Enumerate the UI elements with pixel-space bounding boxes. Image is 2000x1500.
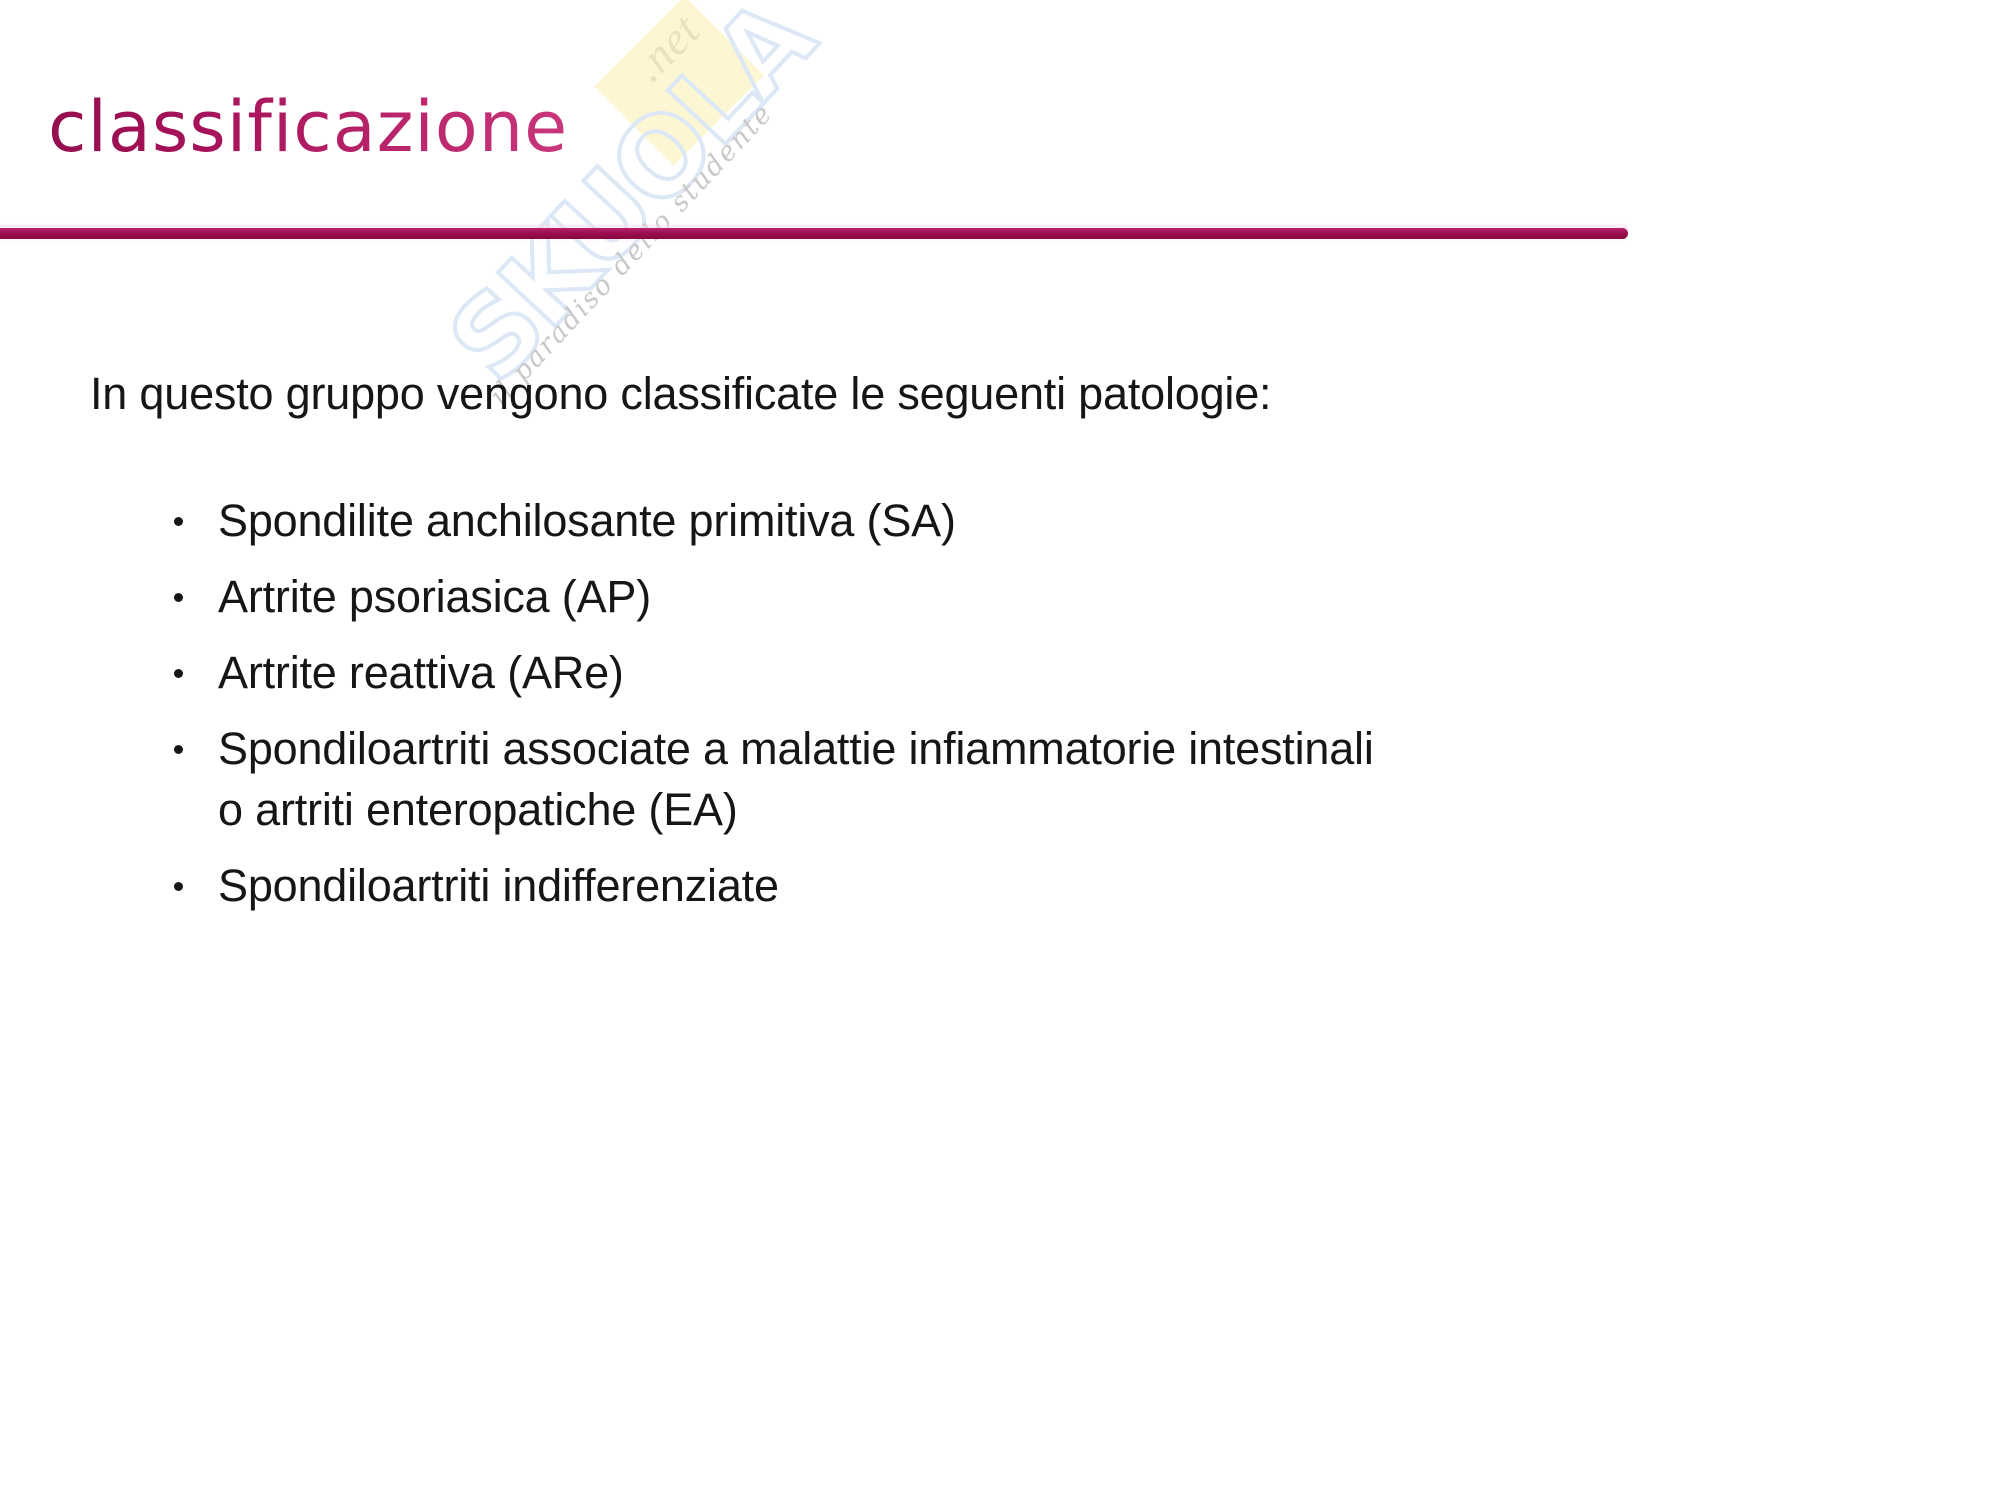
- title-block: classificazione: [0, 92, 1640, 162]
- list-item-label: Artrite reattiva (ARe): [218, 647, 624, 698]
- bullet-dot-icon: [174, 745, 183, 754]
- list-item-label: Spondiloartriti associate a malattie inf…: [218, 723, 1374, 774]
- title-divider-rule: [0, 228, 1628, 239]
- list-item: Spondilite anchilosante primitiva (SA): [170, 490, 1374, 551]
- list-item: Spondiloartriti indifferenziate: [170, 855, 1374, 916]
- bullet-dot-icon: [174, 882, 183, 891]
- watermark-brand-label: SKUOLA: [426, 0, 836, 405]
- intro-paragraph: In questo gruppo vengono classificate le…: [90, 368, 1271, 420]
- watermark-net-label: .net: [622, 3, 710, 91]
- list-item-label: Artrite psoriasica (AP): [218, 571, 651, 622]
- list-item-label: Spondilite anchilosante primitiva (SA): [218, 495, 956, 546]
- slide-canvas: .net SKUOLA il paradiso dello studente c…: [0, 0, 2000, 1500]
- list-item-label: Spondiloartriti indifferenziate: [218, 860, 779, 911]
- bullet-dot-icon: [174, 517, 183, 526]
- page-title: classificazione: [0, 92, 1640, 162]
- pathology-list: Spondilite anchilosante primitiva (SA) A…: [170, 490, 1374, 931]
- list-item-label-continued: o artriti enteropatiche (EA): [218, 779, 1374, 840]
- bullet-dot-icon: [174, 593, 183, 602]
- list-item: Artrite reattiva (ARe): [170, 642, 1374, 703]
- list-item: Spondiloartriti associate a malattie inf…: [170, 718, 1374, 840]
- bullet-dot-icon: [174, 669, 183, 678]
- list-item: Artrite psoriasica (AP): [170, 566, 1374, 627]
